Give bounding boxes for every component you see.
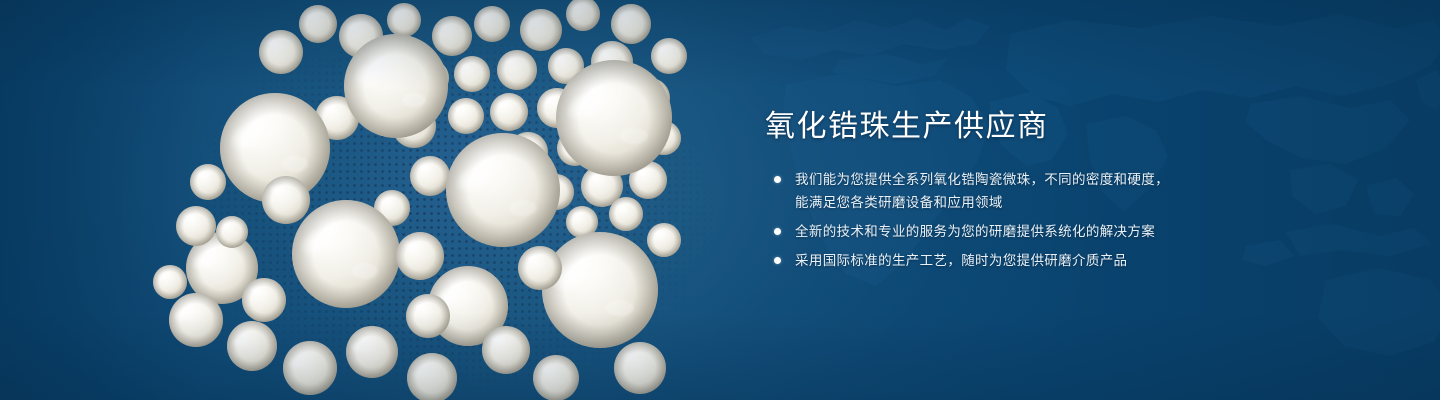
page-title: 氧化锆珠生产供应商 bbox=[765, 110, 1049, 144]
feature-list: 我们能为您提供全系列氧化锆陶瓷微珠，不同的密度和硬度， 能满足您各类研磨设备和应… bbox=[768, 168, 1313, 272]
bullet-dot-icon bbox=[774, 228, 781, 235]
list-item: 我们能为您提供全系列氧化锆陶瓷微珠，不同的密度和硬度， 能满足您各类研磨设备和应… bbox=[768, 168, 1313, 214]
bullet-dot-icon bbox=[774, 176, 781, 183]
list-item-line: 我们能为您提供全系列氧化锆陶瓷微珠，不同的密度和硬度， bbox=[795, 168, 1313, 191]
list-item-line: 全新的技术和专业的服务为您的研磨提供系统化的解决方案 bbox=[795, 220, 1313, 243]
list-item: 全新的技术和专业的服务为您的研磨提供系统化的解决方案 bbox=[768, 220, 1313, 243]
list-item: 采用国际标准的生产工艺，随时为您提供研磨介质产品 bbox=[768, 249, 1313, 272]
banner-content: 氧化锆珠生产供应商 我们能为您提供全系列氧化锆陶瓷微珠，不同的密度和硬度， 能满… bbox=[765, 0, 1325, 400]
list-item-line: 能满足您各类研磨设备和应用领域 bbox=[795, 191, 1313, 214]
list-item-line: 采用国际标准的生产工艺，随时为您提供研磨介质产品 bbox=[795, 249, 1313, 272]
bullet-dot-icon bbox=[774, 257, 781, 264]
hero-banner: 氧化锆珠生产供应商 我们能为您提供全系列氧化锆陶瓷微珠，不同的密度和硬度， 能满… bbox=[0, 0, 1440, 400]
